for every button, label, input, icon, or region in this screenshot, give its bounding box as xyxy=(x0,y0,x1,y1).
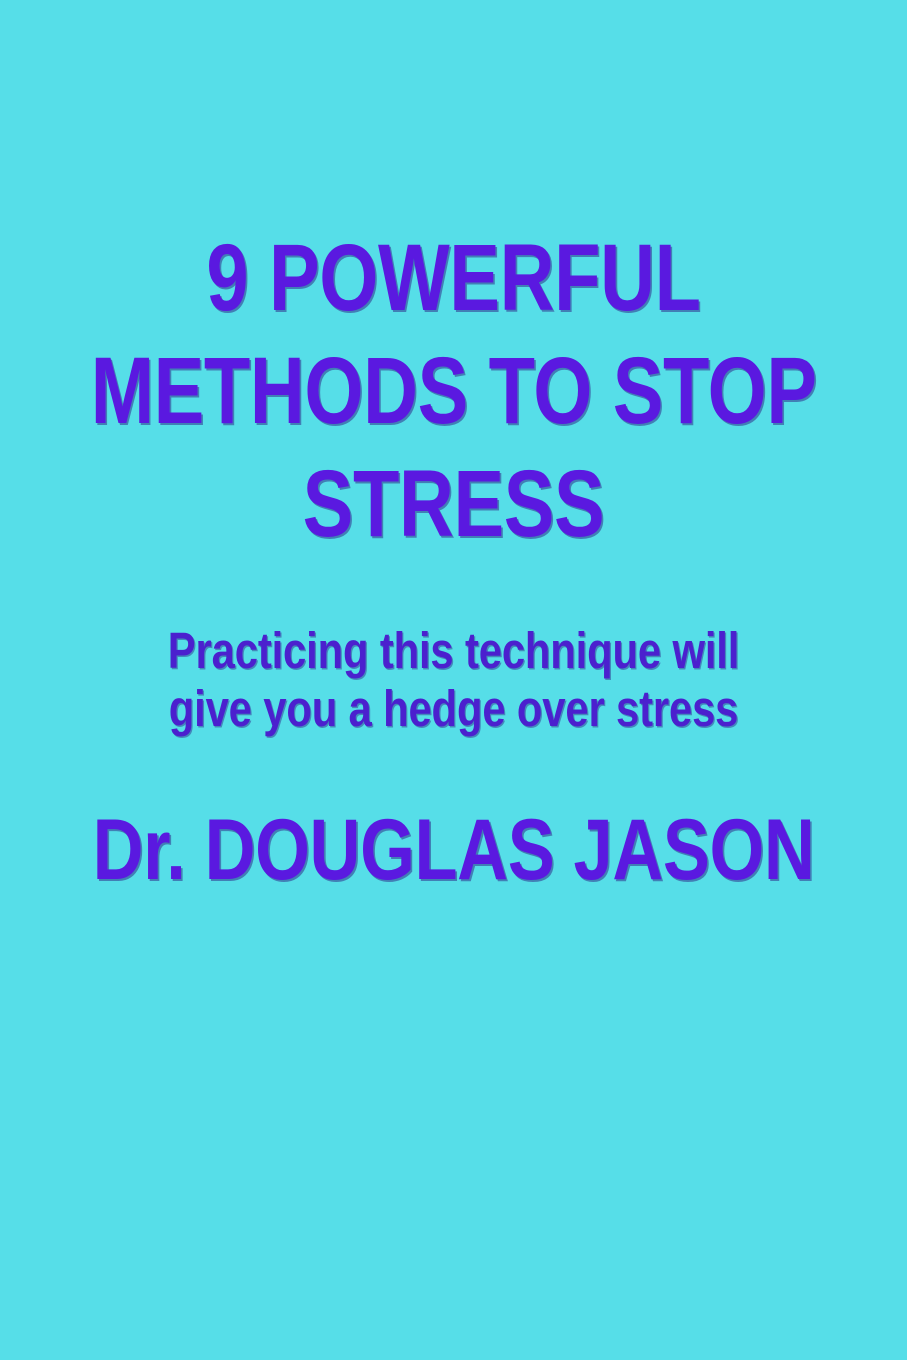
title-line-2: METHODS TO STOP xyxy=(91,335,817,448)
subtitle-line-2: give you a hedge over stress xyxy=(82,680,826,738)
title-line-3: STRESS xyxy=(91,448,817,561)
book-subtitle: Practicing this technique will give you … xyxy=(0,622,907,738)
author-name: Dr. DOUGLAS JASON xyxy=(82,800,826,900)
book-cover: 9 POWERFUL METHODS TO STOP STRESS Practi… xyxy=(0,0,907,1360)
subtitle-line-1: Practicing this technique will xyxy=(82,622,826,680)
book-title: 9 POWERFUL METHODS TO STOP STRESS xyxy=(0,222,907,561)
book-author: Dr. DOUGLAS JASON xyxy=(0,800,907,900)
title-line-1: 9 POWERFUL xyxy=(91,222,817,335)
